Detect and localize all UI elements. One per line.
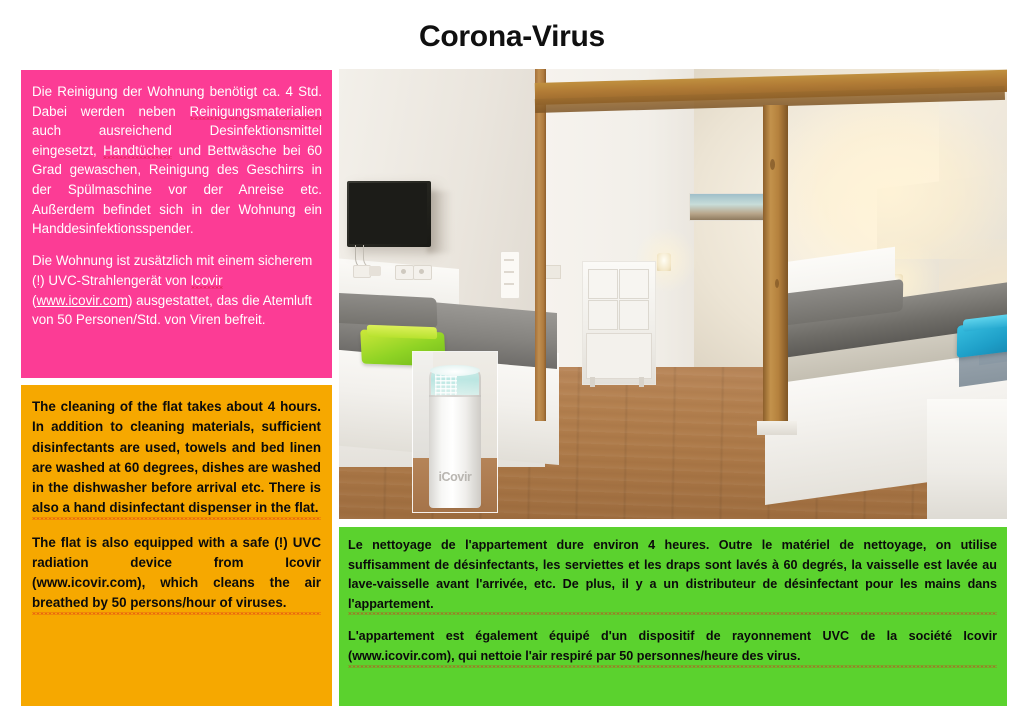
text-panel-english: The cleaning of the flat takes about 4 h… <box>21 385 332 706</box>
page-title: Corona-Virus <box>0 20 1024 54</box>
green-towel-top <box>367 325 438 339</box>
shelf-cube <box>619 300 649 330</box>
german-paragraph-spacer <box>32 239 322 252</box>
device-seam <box>429 395 481 397</box>
light-switch-rocker <box>504 283 514 285</box>
french-paragraph-1: Le nettoyage de l'appartement dure envir… <box>348 536 997 615</box>
text-panel-french: Le nettoyage de l'appartement dure envir… <box>339 527 1007 706</box>
device-top-rim <box>430 365 480 376</box>
german-brand-name: Icovir <box>191 273 223 289</box>
german-paragraph-1: Die Reinigung der Wohnung benötigt ca. 4… <box>32 82 322 239</box>
wall-socket-hole <box>401 269 406 274</box>
wood-knot <box>770 159 775 170</box>
ceiling-light-glow <box>769 89 1007 259</box>
light-switch-rocker <box>504 271 514 273</box>
wall-socket-hole <box>419 269 424 274</box>
wooden-beam-vertical <box>535 69 546 421</box>
icovir-device-inset-photo: iCovir <box>413 352 497 512</box>
german-website-link[interactable]: www.icovir.com <box>36 293 128 308</box>
french-paragraph-spacer <box>348 615 997 627</box>
shelf-cube <box>619 269 649 299</box>
power-plug <box>369 266 381 276</box>
text-panel-german: Die Reinigung der Wohnung benötigt ca. 4… <box>21 70 332 378</box>
german-p1-misspelled-word-2: Handtücher <box>103 143 172 159</box>
english-paragraph-spacer <box>32 520 321 533</box>
bedside-lamp-left <box>657 253 671 271</box>
german-paragraph-2: Die Wohnung ist zusätzlich mit einem sic… <box>32 251 322 329</box>
wood-knot <box>775 279 779 288</box>
wooden-support-post <box>763 105 788 425</box>
right-white-unit <box>927 399 1007 519</box>
shelf-cube <box>588 300 618 330</box>
german-p2-part-a: Die Wohnung ist zusätzlich mit einem sic… <box>32 253 312 288</box>
french-paragraph-2: L'appartement est également équipé d'un … <box>348 627 997 667</box>
tv-screen <box>349 183 427 244</box>
shelf-cabinet-door <box>586 333 652 379</box>
english-paragraph-1: The cleaning of the flat takes about 4 h… <box>32 397 321 520</box>
post-base-plate <box>757 421 797 435</box>
shelf-foot <box>590 377 595 387</box>
shelf-foot <box>639 377 644 387</box>
icovir-brand-label: iCovir <box>429 470 481 484</box>
shelf-cube <box>588 269 618 299</box>
bed-left-pillow <box>339 292 437 328</box>
light-switch-rocker <box>504 259 514 261</box>
english-paragraph-2: The flat is also equipped with a safe (!… <box>32 533 321 615</box>
german-p1-misspelled-word-1: Reinigungsmaterialien <box>190 104 323 120</box>
